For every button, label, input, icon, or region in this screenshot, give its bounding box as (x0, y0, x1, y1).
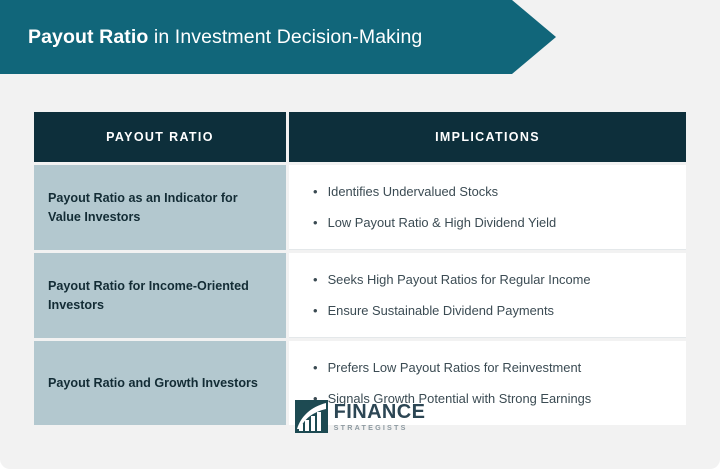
column-header-label: PAYOUT RATIO (106, 130, 214, 144)
logo-subtitle: STRATEGISTS (334, 424, 426, 431)
column-header-payout-ratio: PAYOUT RATIO (34, 112, 286, 162)
row-label-cell: Payout Ratio for Income-Oriented Investo… (34, 253, 286, 338)
list-item: • Identifies Undervalued Stocks (313, 183, 668, 200)
list-item: • Ensure Sustainable Dividend Payments (313, 302, 668, 319)
row-label-text: Payout Ratio and Growth Investors (48, 374, 258, 392)
bullet-icon: • (313, 214, 318, 231)
bullet-icon: • (313, 183, 318, 200)
row-implications-cell: • Seeks High Payout Ratios for Regular I… (289, 253, 686, 338)
header-banner: Payout Ratio in Investment Decision-Maki… (0, 0, 556, 74)
infographic-card: Payout Ratio in Investment Decision-Maki… (0, 0, 720, 469)
row-label-text: Payout Ratio as an Indicator for Value I… (48, 189, 270, 226)
page-title-rest: in Investment Decision-Making (148, 26, 422, 48)
list-item-text: Prefers Low Payout Ratios for Reinvestme… (328, 359, 582, 376)
list-item-text: Low Payout Ratio & High Dividend Yield (328, 214, 557, 231)
finance-strategists-logo-icon (295, 400, 328, 433)
column-header-label: IMPLICATIONS (435, 130, 540, 144)
table-header-row: PAYOUT RATIO IMPLICATIONS (34, 112, 686, 162)
logo-wordmark: FINANCE STRATEGISTS (334, 402, 426, 431)
list-item: • Low Payout Ratio & High Dividend Yield (313, 214, 668, 231)
comparison-table: PAYOUT RATIO IMPLICATIONS Payout Ratio a… (34, 112, 686, 425)
table-body: Payout Ratio as an Indicator for Value I… (34, 165, 686, 425)
row-label-cell: Payout Ratio as an Indicator for Value I… (34, 165, 286, 250)
row-label-text: Payout Ratio for Income-Oriented Investo… (48, 277, 270, 314)
logo-name: FINANCE (334, 402, 426, 422)
list-item-text: Identifies Undervalued Stocks (328, 183, 499, 200)
list-item: • Seeks High Payout Ratios for Regular I… (313, 271, 668, 288)
bullet-icon: • (313, 302, 318, 319)
page-title: Payout Ratio in Investment Decision-Maki… (28, 26, 422, 49)
list-item-text: Ensure Sustainable Dividend Payments (328, 302, 554, 319)
column-header-implications: IMPLICATIONS (289, 112, 686, 162)
table-row: Payout Ratio as an Indicator for Value I… (34, 165, 686, 250)
list-item: • Prefers Low Payout Ratios for Reinvest… (313, 359, 668, 376)
table-row: Payout Ratio for Income-Oriented Investo… (34, 253, 686, 338)
brand-logo: FINANCE STRATEGISTS (0, 400, 720, 433)
bullet-icon: • (313, 359, 318, 376)
page-title-emphasis: Payout Ratio (28, 26, 148, 48)
bullet-icon: • (313, 271, 318, 288)
row-implications-cell: • Identifies Undervalued Stocks • Low Pa… (289, 165, 686, 250)
list-item-text: Seeks High Payout Ratios for Regular Inc… (328, 271, 591, 288)
